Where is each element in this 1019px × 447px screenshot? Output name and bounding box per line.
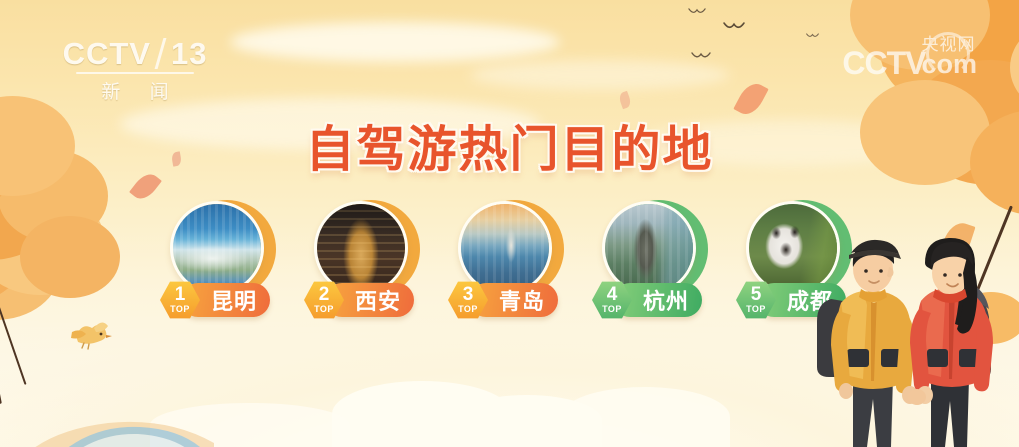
ground-cloud — [560, 387, 730, 447]
ranking-list: 1 TOP 昆明 2 TOP 西安 — [152, 196, 872, 321]
rank-top-label: TOP — [170, 305, 190, 314]
sky-bird-icon — [722, 22, 746, 33]
rank-number: 3 — [463, 286, 474, 304]
rank-badge: 1 TOP 昆明 — [160, 281, 270, 319]
sky-cloud — [470, 60, 730, 90]
rank-number: 2 — [319, 286, 330, 304]
car-illustration — [28, 407, 218, 447]
rank-number: 5 — [751, 286, 762, 304]
flying-bird-icon — [62, 310, 116, 352]
rank-badge: 3 TOP 青岛 — [448, 281, 558, 319]
page-title: 自驾游热门目的地 — [0, 110, 1019, 181]
cctv13-channel-logo: CCTV 13 新 闻 — [55, 38, 215, 100]
sky-bird-icon — [690, 52, 712, 62]
rank-number: 1 — [175, 286, 186, 304]
rank-top-label: TOP — [602, 305, 622, 314]
travelers-illustration — [813, 237, 1013, 447]
list-item[interactable]: 3 TOP 青岛 — [440, 196, 584, 321]
channel-number: 13 — [171, 38, 207, 69]
list-item[interactable]: 4 TOP 杭州 — [584, 196, 728, 321]
list-item[interactable]: 2 TOP 西安 — [296, 196, 440, 321]
rank-top-label: TOP — [458, 305, 478, 314]
falling-leaf — [618, 91, 633, 109]
rank-top-label: TOP — [746, 305, 766, 314]
sky-bird-icon — [688, 8, 706, 17]
sky-cloud — [230, 22, 560, 62]
channel-subtitle: 新 闻 — [55, 77, 215, 104]
cctv-wordmark: CCTV — [63, 38, 151, 69]
rank-badge: 2 TOP 西安 — [304, 281, 414, 319]
logo-rule — [76, 72, 194, 74]
rank-top-label: TOP — [314, 305, 334, 314]
broadcast-frame: CCTV 13 新 闻 CCTV 央视网 com 自驾游热门目的地 — [0, 0, 1019, 447]
rank-number: 4 — [607, 286, 618, 304]
rank-badge: 4 TOP 杭州 — [592, 281, 702, 319]
sky-bird-icon — [806, 33, 819, 40]
list-item[interactable]: 1 TOP 昆明 — [152, 196, 296, 321]
